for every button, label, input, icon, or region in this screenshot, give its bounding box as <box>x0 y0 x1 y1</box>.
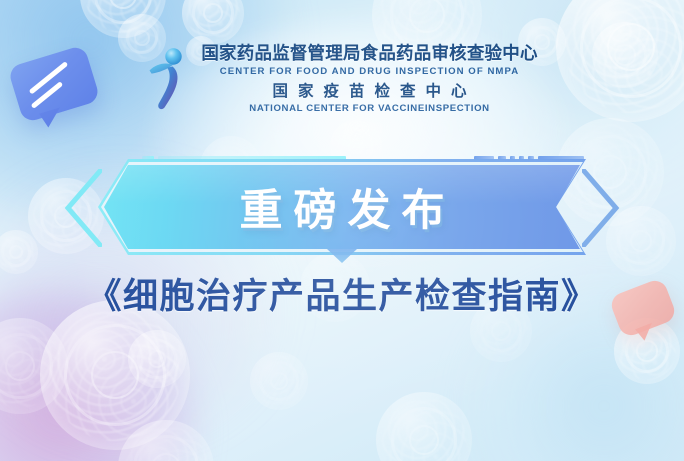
masthead: 国家药品监督管理局食品药品审核查验中心 CENTER FOR FOOD AND … <box>0 44 684 116</box>
chevron-right-icon <box>582 169 622 247</box>
cell-sphere-icon <box>80 0 166 38</box>
bubble-tail <box>635 323 657 343</box>
cell-sphere-icon <box>40 300 190 450</box>
cell-sphere-icon <box>376 392 472 461</box>
headline-text: 重磅发布 <box>104 165 580 249</box>
nmpa-human-figure-logo-icon <box>146 46 188 112</box>
cell-sphere-icon <box>250 352 308 410</box>
masthead-en-line-2: NATIONAL CENTER FOR VACCINEINSPECTION <box>249 102 489 115</box>
cell-sphere-icon <box>128 330 186 388</box>
masthead-cn-line-2: 国家疫苗检查中心 <box>262 82 476 102</box>
subtitle-text: 《细胞治疗产品生产检查指南》 <box>0 268 684 319</box>
chevron-left-icon <box>62 169 102 247</box>
cell-sphere-icon <box>0 318 68 414</box>
cell-sphere-icon <box>118 420 214 461</box>
masthead-en-line-1: CENTER FOR FOOD AND DRUG INSPECTION OF N… <box>220 65 519 79</box>
banner-notch-icon <box>327 249 357 263</box>
poster-canvas: 国家药品监督管理局食品药品审核查验中心 CENTER FOR FOOD AND … <box>0 0 684 461</box>
cell-sphere-icon <box>182 0 244 44</box>
masthead-text-block: 国家药品监督管理局食品药品审核查验中心 CENTER FOR FOOD AND … <box>201 44 537 116</box>
masthead-cn-line-1: 国家药品监督管理局食品药品审核查验中心 <box>201 44 537 64</box>
headline-banner: 重磅发布 <box>0 155 684 265</box>
